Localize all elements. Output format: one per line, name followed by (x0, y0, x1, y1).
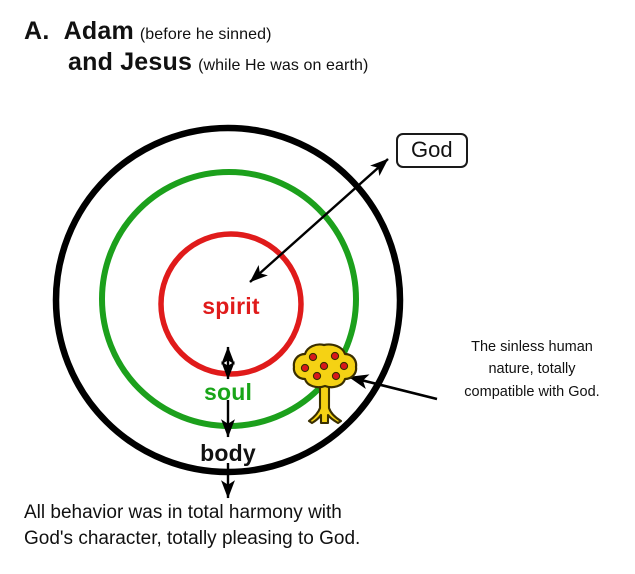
apple-tree-icon (294, 344, 356, 423)
diagram-canvas: A.Adam(before he sinned) and Jesus(while… (0, 0, 635, 574)
concentric-rings-diagram (0, 0, 635, 574)
sinless-note-line-2: nature, totally (434, 358, 630, 380)
behavior-caption: All behavior was in total harmony with G… (24, 500, 494, 551)
behavior-caption-line-2: God's character, totally pleasing to God… (24, 526, 494, 552)
sinless-nature-note: The sinless human nature, totally compat… (434, 336, 630, 403)
sinless-note-line-1: The sinless human (434, 336, 630, 358)
ring-label-body: body (200, 440, 256, 467)
ring-label-soul: soul (204, 379, 252, 406)
sinless-note-line-3: compatible with God. (434, 381, 630, 403)
ring-label-spirit: spirit (202, 293, 259, 320)
god-label-box: God (396, 133, 468, 168)
arrow-note-to-tree (349, 377, 437, 399)
behavior-caption-line-1: All behavior was in total harmony with (24, 500, 494, 526)
